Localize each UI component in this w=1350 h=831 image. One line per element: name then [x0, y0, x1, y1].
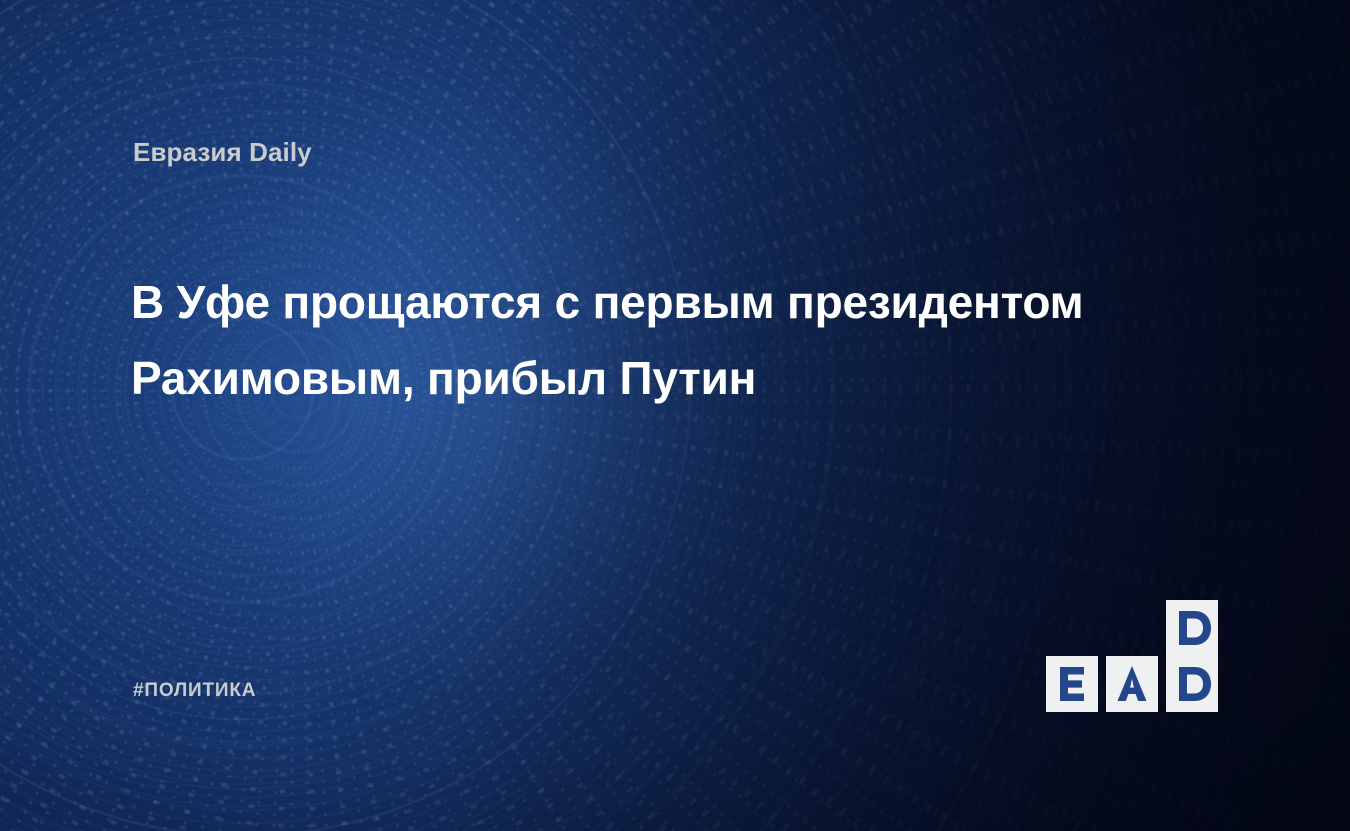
logo-tile-a	[1106, 656, 1158, 712]
site-name: Евразия Daily	[133, 137, 312, 168]
logo-tile-e	[1046, 656, 1098, 712]
logo-tile-d-lower	[1166, 656, 1218, 712]
logo-tile-d-upper	[1166, 600, 1218, 656]
social-share-card: Евразия Daily В Уфе прощаются с первым п…	[0, 0, 1350, 831]
page-title: В Уфе прощаются с первым президентом Рах…	[131, 264, 1091, 416]
category-tag-politics[interactable]: #ПОЛИТИКА	[133, 680, 256, 702]
eadaily-logo[interactable]	[1046, 628, 1222, 714]
card-content: Евразия Daily В Уфе прощаются с первым п…	[0, 0, 1350, 831]
